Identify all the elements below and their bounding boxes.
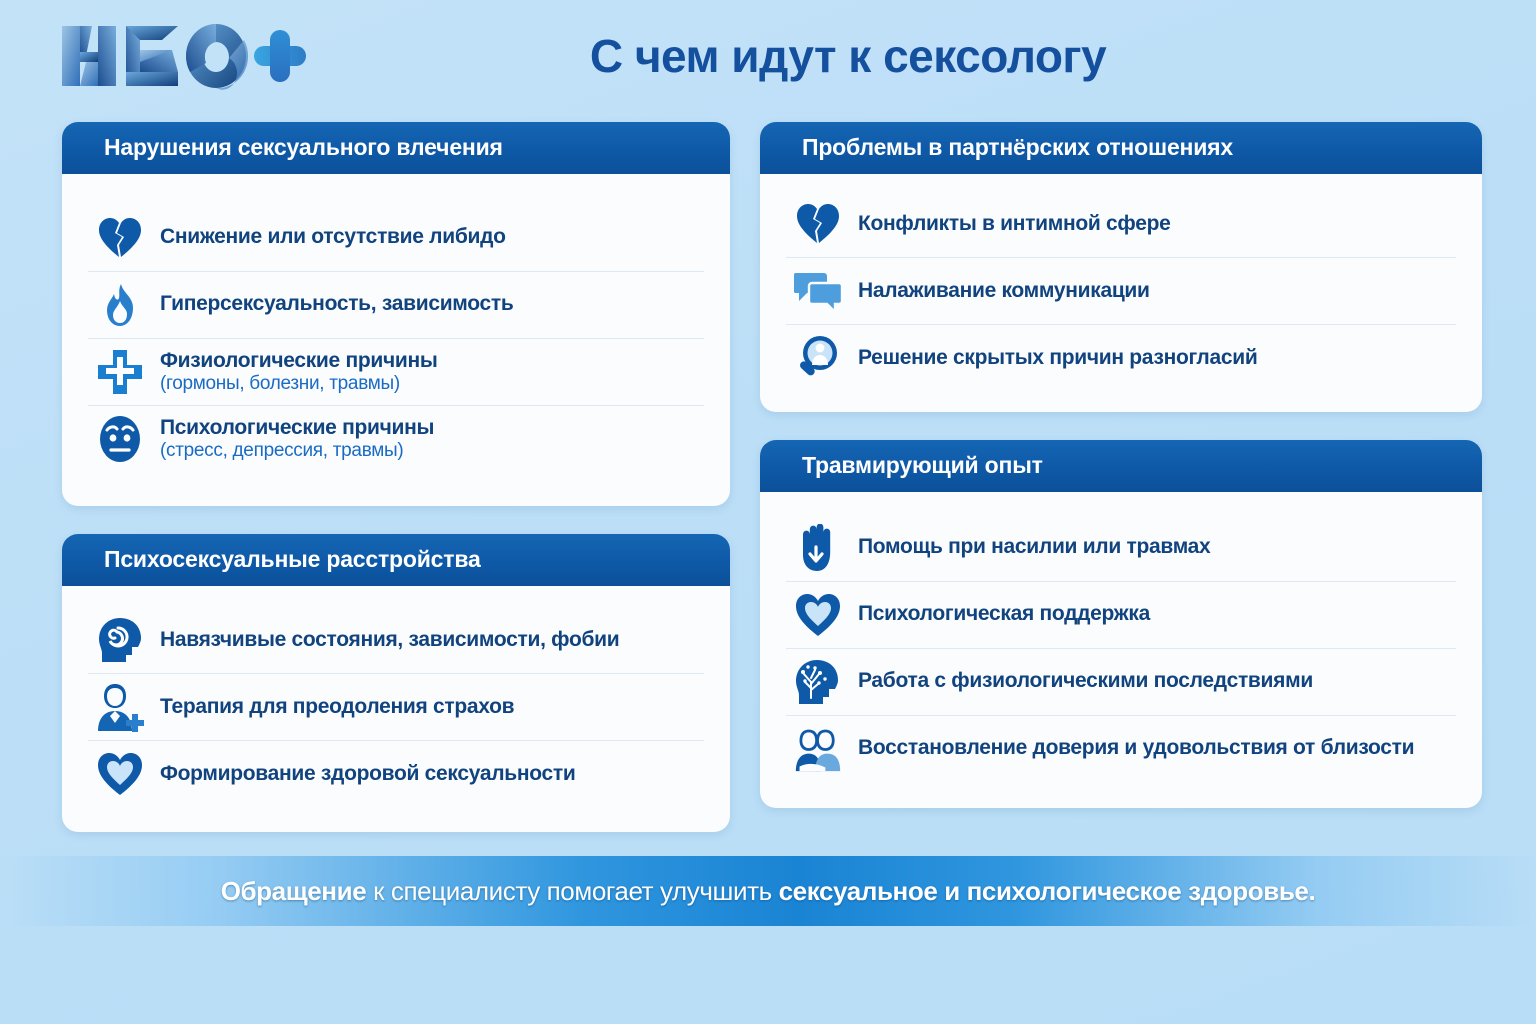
list-item[interactable]: Гиперсексуальность, зависимость — [88, 272, 704, 339]
card-partnership-items: Конфликты в интимной сфере Налаживание к… — [760, 174, 1482, 412]
stop-hand-icon — [794, 524, 842, 572]
footer-text: Обращение к специалисту помогает улучшит… — [221, 876, 1316, 907]
list-item[interactable]: Навязчивые состояния, зависимости, фобии — [88, 607, 704, 674]
list-item-label: Решение скрытых причин разногласий — [858, 346, 1257, 369]
list-item[interactable]: Снижение или отсутствие либидо — [88, 205, 704, 272]
list-item[interactable]: Терапия для преодоления страхов — [88, 674, 704, 741]
magnifier-person-icon — [794, 334, 842, 382]
footer-banner: Обращение к специалисту помогает улучшит… — [0, 856, 1536, 926]
sad-face-icon — [96, 415, 144, 463]
list-item-label: Психологические причины — [160, 416, 434, 439]
card-desire: Нарушения сексуального влечения Снижение… — [62, 122, 730, 506]
list-item[interactable]: Восстановление доверия и удовольствия от… — [786, 716, 1456, 782]
heart-outline-icon — [794, 591, 842, 639]
list-item[interactable]: Работа с физиологическими последствиями — [786, 649, 1456, 716]
broken-heart-icon — [96, 214, 144, 262]
flame-icon — [96, 281, 144, 329]
card-trauma: Травмирующий опыт Помощь при насилии или… — [760, 440, 1482, 808]
list-item[interactable]: Психологическая поддержка — [786, 582, 1456, 649]
page-title: С чем идут к сексологу — [310, 29, 1386, 83]
list-item[interactable]: Психологические причины (стресс, депресс… — [88, 406, 704, 472]
list-item-label: Психологическая поддержка — [858, 602, 1150, 625]
card-psychosexual: Психосексуальные расстройства Навязчивые… — [62, 534, 730, 832]
list-item[interactable]: Формирование здоровой сексуальности — [88, 741, 704, 807]
head-tree-icon — [794, 658, 842, 706]
list-item-label: Гиперсексуальность, зависимость — [160, 292, 514, 315]
footer-text-part1: Обращение — [221, 876, 367, 906]
heart-outline-icon — [96, 750, 144, 798]
list-item-label: Конфликты в интимной сфере — [858, 212, 1170, 235]
card-partnership-title: Проблемы в партнёрских отношениях — [760, 122, 1482, 174]
person-plus-icon — [96, 683, 144, 731]
head-spiral-icon — [96, 616, 144, 664]
list-item-sublabel: (стресс, депрессия, травмы) — [160, 440, 403, 461]
list-item-label: Формирование здоровой сексуальности — [160, 762, 576, 785]
list-item-label: Навязчивые состояния, зависимости, фобии — [160, 628, 619, 651]
list-item[interactable]: Физиологические причины (гормоны, болезн… — [88, 339, 704, 406]
neo-plus-logo — [58, 20, 310, 92]
card-desire-title: Нарушения сексуального влечения — [62, 122, 730, 174]
list-item-label: Работа с физиологическими последствиями — [858, 669, 1313, 692]
broken-heart-icon — [794, 200, 842, 248]
page-header: С чем идут к сексологу — [0, 0, 1536, 112]
list-item-label: Налаживание коммуникации — [858, 279, 1150, 302]
card-partnership: Проблемы в партнёрских отношениях Конфли… — [760, 122, 1482, 412]
list-item-label: Снижение или отсутствие либидо — [160, 225, 506, 248]
list-item-label: Физиологические причины — [160, 349, 437, 372]
card-psychosexual-title: Психосексуальные расстройства — [62, 534, 730, 586]
footer-text-part3: сексуальное и психологическое здоровье. — [779, 876, 1316, 906]
list-item[interactable]: Налаживание коммуникации — [786, 258, 1456, 325]
medical-cross-icon — [96, 348, 144, 396]
speech-bubbles-icon — [794, 267, 842, 315]
card-psychosexual-items: Навязчивые состояния, зависимости, фобии… — [62, 586, 730, 832]
list-item-label: Терапия для преодоления страхов — [160, 695, 514, 718]
list-item[interactable]: Решение скрытых причин разногласий — [786, 325, 1456, 391]
list-item-label: Восстановление доверия и удовольствия от… — [858, 736, 1414, 759]
list-item[interactable]: Конфликты в интимной сфере — [786, 191, 1456, 258]
list-item-sublabel: (гормоны, болезни, травмы) — [160, 373, 400, 394]
card-trauma-items: Помощь при насилии или травмах Психологи… — [760, 492, 1482, 808]
couple-embrace-icon — [794, 725, 842, 773]
list-item-label: Помощь при насилии или травмах — [858, 535, 1210, 558]
footer-text-part2: к специалисту помогает улучшить — [366, 876, 778, 906]
card-trauma-title: Травмирующий опыт — [760, 440, 1482, 492]
list-item[interactable]: Помощь при насилии или травмах — [786, 515, 1456, 582]
card-desire-items: Снижение или отсутствие либидо Гиперсекс… — [62, 174, 730, 506]
